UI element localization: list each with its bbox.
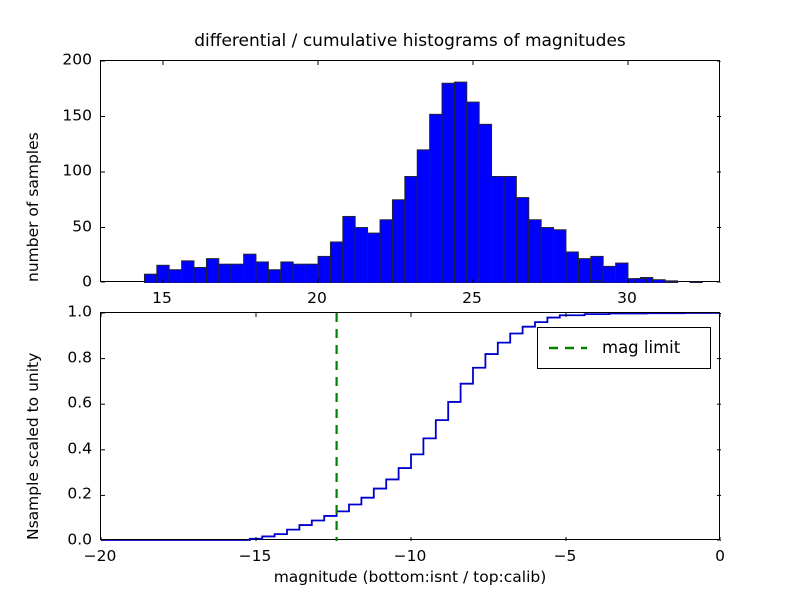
histogram-bar [268, 270, 280, 283]
histogram-bar [169, 270, 181, 283]
mag-limit-line-icon [548, 341, 588, 355]
histogram-bar [529, 220, 541, 283]
x-tick-label: −20 [84, 549, 117, 565]
histogram-bar [219, 264, 231, 283]
histogram-bar [368, 233, 380, 283]
x-tick-label: 0 [715, 549, 725, 565]
histogram-bar [330, 242, 342, 283]
x-tick-label: 30 [617, 291, 637, 307]
y-tick-label: 150 [34, 108, 92, 124]
histogram-bar [467, 102, 479, 283]
histogram-bar [578, 259, 590, 283]
y-tick-label: 0.2 [34, 487, 92, 503]
histogram-bar [231, 264, 243, 283]
histogram-bar [516, 198, 528, 283]
y-tick-label: 0 [34, 274, 92, 290]
differential-histogram-axes [100, 60, 720, 282]
histogram-bar [244, 254, 256, 283]
figure-canvas: differential / cumulative histograms of … [0, 0, 800, 600]
histogram-bar [293, 264, 305, 283]
histogram-bar [454, 82, 466, 283]
cumulative-x-axis-label: magnitude (bottom:isnt / top:calib) [274, 570, 547, 586]
histogram-bars [144, 82, 702, 283]
histogram-bar [616, 263, 628, 283]
histogram-bar [182, 261, 194, 283]
histogram-bar [634, 279, 646, 283]
histogram-bar [541, 228, 553, 284]
histogram-bar [392, 200, 404, 283]
y-tick-label: 0.4 [34, 441, 92, 457]
legend: mag limit [537, 327, 711, 369]
legend-item-label: mag limit [602, 340, 680, 357]
histogram-bar [653, 280, 665, 283]
histogram-bar [665, 282, 677, 283]
histogram-bar [256, 262, 268, 283]
histogram-bar [492, 176, 504, 283]
y-tick-label: 0.6 [34, 395, 92, 411]
page-title: differential / cumulative histograms of … [194, 33, 626, 50]
histogram-bar [430, 114, 442, 283]
histogram-bar [504, 176, 516, 283]
y-tick-label: 0.0 [34, 532, 92, 548]
differential-histogram-plot [101, 61, 721, 283]
histogram-bar [206, 259, 218, 283]
histogram-bar [417, 150, 429, 283]
histogram-bar [442, 83, 454, 283]
histogram-bar [355, 228, 367, 284]
differential-y-axis-label: number of samples [26, 132, 42, 282]
histogram-bar [603, 266, 615, 283]
histogram-bar [144, 274, 156, 283]
cumulative-y-axis-label: Nsample scaled to unity [26, 353, 42, 540]
histogram-bar [591, 256, 603, 283]
histogram-bar [591, 281, 603, 283]
histogram-bar [690, 282, 702, 283]
histogram-bar [554, 230, 566, 283]
histogram-bar [306, 264, 318, 283]
histogram-bar [343, 216, 355, 283]
histogram-bar [380, 220, 392, 283]
y-tick-label: 1.0 [34, 304, 92, 320]
x-tick-label: 15 [152, 291, 172, 307]
y-tick-label: 100 [34, 163, 92, 179]
histogram-bar [281, 262, 293, 283]
y-tick-label: 0.8 [34, 350, 92, 366]
histogram-bar [405, 176, 417, 283]
x-tick-label: −15 [239, 549, 272, 565]
x-tick-label: −5 [554, 549, 577, 565]
histogram-bar [566, 252, 578, 283]
histogram-bar [479, 124, 491, 283]
histogram-bar [194, 267, 206, 283]
x-tick-label: 25 [462, 291, 482, 307]
histogram-bar [318, 256, 330, 283]
y-tick-label: 50 [34, 219, 92, 235]
x-tick-label: −10 [394, 549, 427, 565]
x-tick-label: 20 [307, 291, 327, 307]
y-tick-label: 200 [34, 52, 92, 68]
